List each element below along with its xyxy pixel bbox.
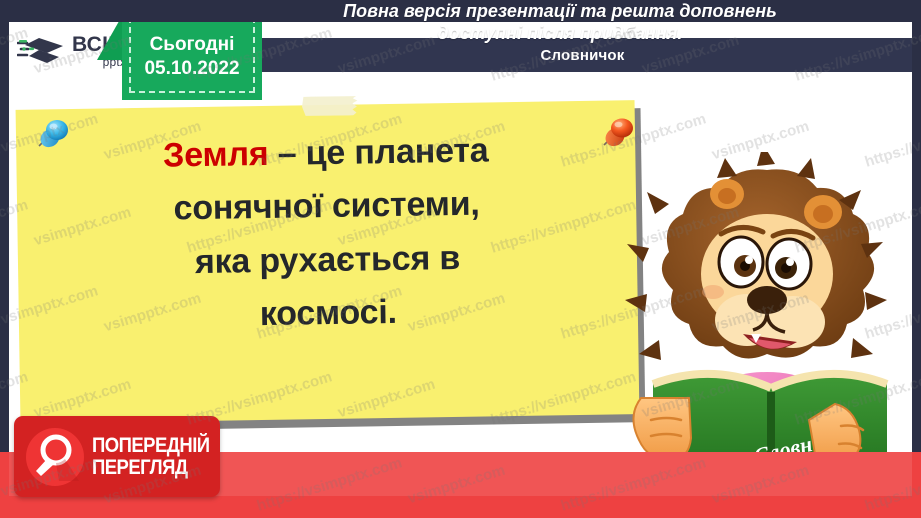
tape-strip-icon <box>302 95 359 116</box>
keyword-zemlya: Земля <box>163 135 269 175</box>
definition-line-1-rest: – це планета <box>268 131 489 172</box>
graduation-cap-icon <box>17 34 71 68</box>
purchase-notice: Повна версія презентації та решта доповн… <box>250 1 870 45</box>
preview-badge-line-1: ПОПЕРЕДНІЙ <box>92 435 210 456</box>
preview-badge[interactable]: ПОПЕРЕДНІЙ ПЕРЕГЛЯД <box>14 416 220 497</box>
today-label: Сьогодні <box>150 33 235 57</box>
today-date: 05.10.2022 <box>144 57 239 81</box>
preview-badge-label: ПОПЕРЕДНІЙ ПЕРЕГЛЯД <box>92 435 210 478</box>
pushpin-red-icon <box>597 112 639 154</box>
sticky-note: Земля – це планета сонячної системи, яка… <box>18 105 643 427</box>
definition-line-3: яка рухається в <box>18 229 638 292</box>
pushpin-blue-icon <box>31 114 73 156</box>
purchase-notice-line-2: доступні після придбання. <box>250 23 870 45</box>
definition-line-4: космосі. <box>18 282 638 345</box>
today-date-badge: Сьогодні 05.10.2022 <box>122 22 262 100</box>
definition-line-2: сонячної системи, <box>17 176 637 239</box>
definition-text: Земля – це планета сонячної системи, яка… <box>16 122 638 345</box>
magnifier-icon <box>26 428 84 486</box>
slide-canvas: Земля – це планета сонячної системи, яка… <box>0 0 921 518</box>
lion-character-illustration: Словничок <box>607 152 912 492</box>
definition-line-1: Земля – це планета <box>16 122 636 185</box>
sticky-note-surface: Земля – це планета сонячної системи, яка… <box>16 100 640 424</box>
page-title: Словничок <box>540 47 624 64</box>
preview-badge-line-2: ПЕРЕГЛЯД <box>92 457 210 478</box>
purchase-notice-line-1: Повна версія презентації та решта доповн… <box>250 1 870 23</box>
